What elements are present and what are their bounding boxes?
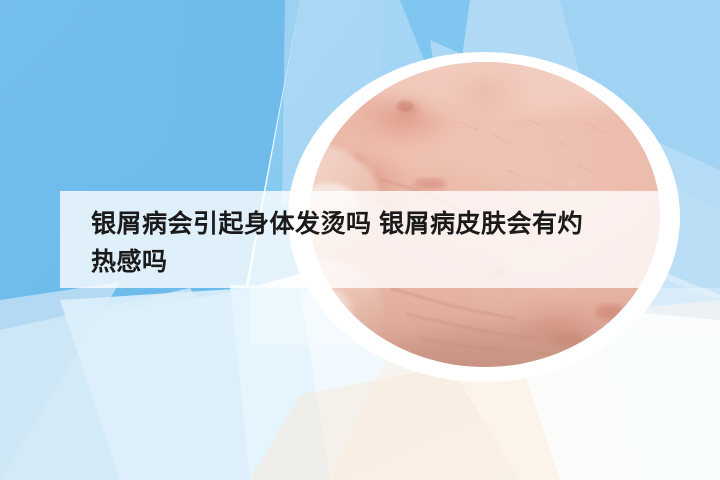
caption-line-2: 热感吗 <box>91 248 168 276</box>
thumbnail-canvas: 银屑病会引起身体发烫吗 银屑病皮肤会有灼热感吗 <box>0 0 720 480</box>
caption-line-1: 银屑病会引起身体发烫吗 银屑病皮肤会有灼 <box>91 210 583 238</box>
caption-title: 银屑病会引起身体发烫吗 银屑病皮肤会有灼热感吗 <box>91 205 651 281</box>
